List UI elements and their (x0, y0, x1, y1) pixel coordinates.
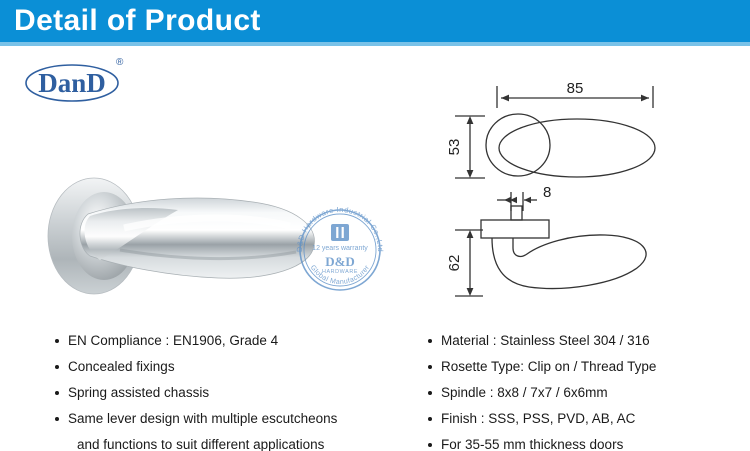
list-item: For 35-55 mm thickness doors (428, 432, 748, 451)
watermark-seal-icon: D&D Hardware Industrial Co.,Ltd 12 years… (288, 198, 392, 302)
list-item: Material : Stainless Steel 304 / 316 (428, 328, 748, 354)
svg-text:DanD: DanD (38, 68, 106, 98)
list-item: Spindle : 8x8 / 7x7 / 6x6mm (428, 380, 748, 406)
door-handle-illustration (28, 150, 328, 325)
sideview-lever (492, 235, 646, 289)
topview-lever (499, 119, 655, 177)
list-item: EN Compliance : EN1906, Grade 4 (55, 328, 395, 354)
company-watermark-seal: D&D Hardware Industrial Co.,Ltd 12 years… (288, 198, 392, 302)
product-detail-page: Detail of Product DanD ® (0, 0, 750, 451)
seal-warranty-text: 12 years warranty (312, 245, 368, 252)
spec-list-right: Material : Stainless Steel 304 / 316 Ros… (428, 328, 748, 451)
list-item: Finish : SSS, PSS, PVD, AB, AC (428, 406, 748, 432)
sideview-spindle (511, 206, 522, 220)
sideview-rosette-plate (481, 220, 549, 238)
registered-trademark-icon: ® (116, 58, 123, 68)
page-header-underline (0, 42, 750, 46)
dim-label-8: 8 (543, 184, 551, 201)
list-item: Rosette Type: Clip on / Thread Type (428, 354, 748, 380)
dim-label-62: 62 (446, 255, 463, 272)
list-item-continuation: and functions to suit different applicat… (55, 432, 395, 451)
page-title: Detail of Product (14, 3, 261, 39)
technical-drawing-svg: 85 53 8 62 (425, 78, 745, 318)
spec-list-left: EN Compliance : EN1906, Grade 4 Conceale… (55, 328, 395, 451)
list-item: Same lever design with multiple escutche… (55, 406, 395, 432)
list-item: Spring assisted chassis (55, 380, 395, 406)
seal-subbrand-text: HARDWARE (322, 269, 358, 275)
seal-brand-text: D&D (325, 254, 355, 269)
dim-label-85: 85 (567, 80, 584, 97)
dim-label-53: 53 (446, 139, 463, 156)
technical-drawing: 85 53 8 62 (425, 78, 745, 318)
list-item: Concealed fixings (55, 354, 395, 380)
product-photo (28, 150, 328, 325)
brand-logo: DanD ® (20, 58, 140, 106)
